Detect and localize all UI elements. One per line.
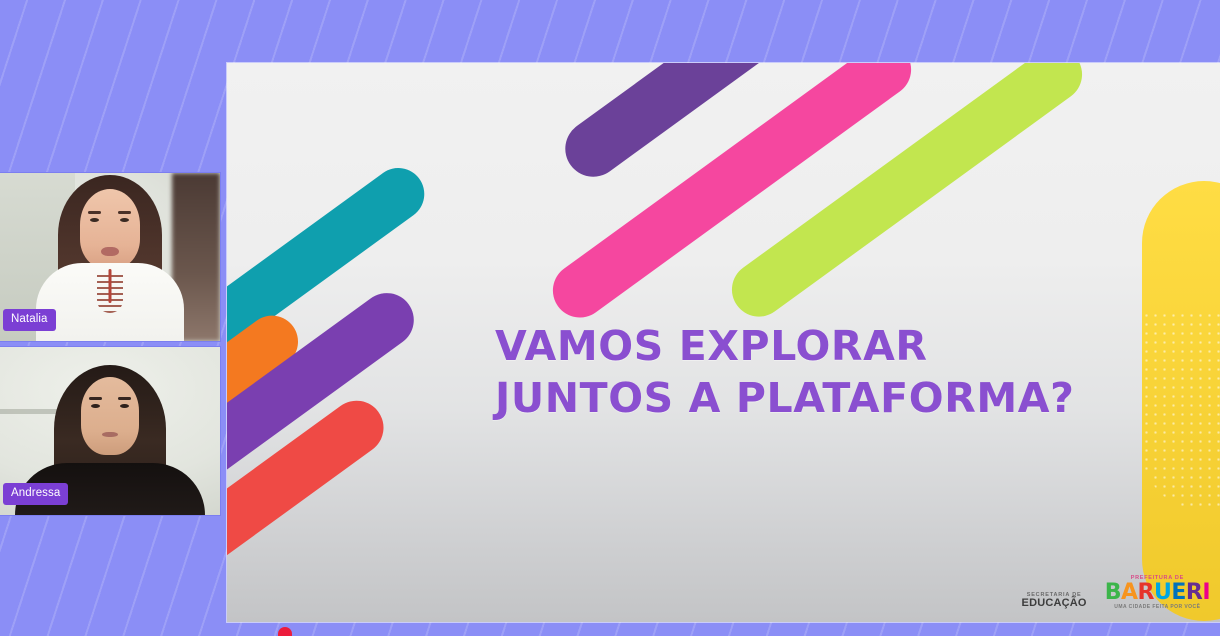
avatar-eye-right (120, 218, 129, 222)
avatar-clothing (36, 263, 184, 341)
ribbon-lime-shape (721, 63, 1093, 327)
prefeitura-barueri-logo: PREFEITURA DE BARUERI UMA CIDADE FEITA P… (1105, 576, 1210, 611)
slide-footer-logos: SECRETARIA DE EDUCAÇÃO PREFEITURA DE BAR… (1022, 576, 1210, 611)
headline-line-2: JUNTOS A PLATAFORMA? (495, 373, 1074, 425)
avatar-mouth (102, 432, 118, 437)
avatar-brow-right (118, 211, 131, 214)
headline-line-1: VAMOS EXPLORAR (495, 321, 1074, 373)
avatar-eye-right (120, 404, 129, 408)
yellow-pill-shape (1142, 181, 1220, 621)
avatar-face (81, 377, 139, 455)
recording-indicator-icon (278, 627, 292, 636)
avatar-brow-left (88, 211, 101, 214)
secretaria-main-line: EDUCAÇÃO (1022, 598, 1087, 610)
avatar-brow-right (118, 397, 131, 400)
avatar-eye-left (91, 404, 100, 408)
video-tile-natalia[interactable]: Natalia (0, 172, 221, 342)
avatar-mouth (101, 247, 119, 256)
shared-screen-slide[interactable]: VAMOS EXPLORAR JUNTOS A PLATAFORMA? SECR… (227, 63, 1220, 622)
avatar-eye-left (90, 218, 99, 222)
participant-filmstrip: Natalia Andressa (0, 172, 221, 516)
secretaria-educacao-logo: SECRETARIA DE EDUCAÇÃO (1022, 593, 1087, 610)
barueri-tagline: UMA CIDADE FEITA POR VOCÊ (1105, 605, 1210, 610)
barueri-wordmark: BARUERI (1105, 582, 1210, 604)
avatar-brow-left (89, 397, 102, 400)
participant-name-badge-natalia: Natalia (3, 309, 56, 332)
participant-name-badge-andressa: Andressa (3, 483, 68, 506)
avatar-face (80, 189, 140, 269)
slide-headline: VAMOS EXPLORAR JUNTOS A PLATAFORMA? (495, 321, 1074, 424)
video-meeting-stage: VAMOS EXPLORAR JUNTOS A PLATAFORMA? SECR… (0, 0, 1220, 636)
video-tile-andressa[interactable]: Andressa (0, 346, 221, 516)
